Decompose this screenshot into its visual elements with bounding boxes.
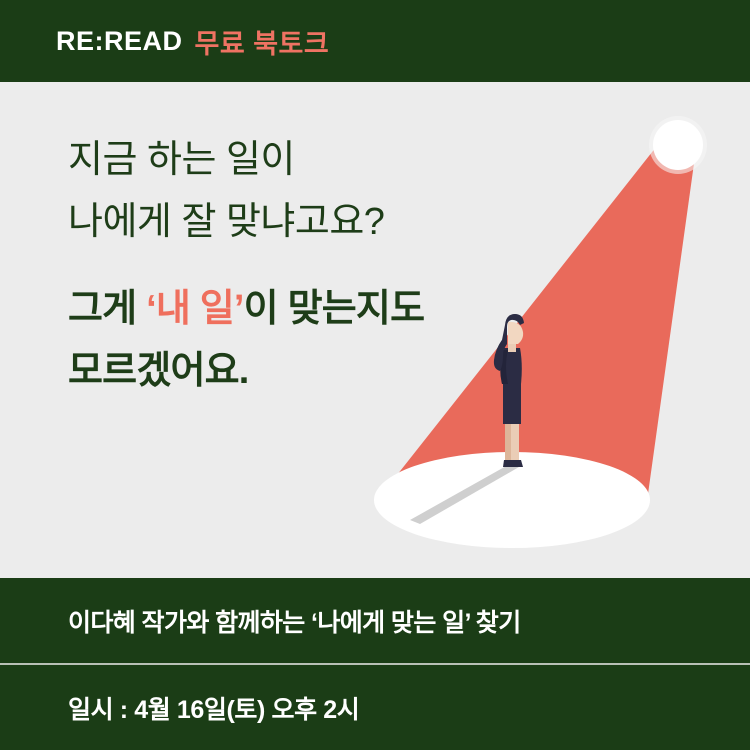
- woman-back-leg: [505, 419, 512, 465]
- headline-line-4: 모르겠어요.: [68, 341, 498, 403]
- footer-event-title: 이다혜 작가와 함께하는 ‘나에게 맞는 일’ 찾기: [68, 578, 521, 663]
- woman-shoe: [503, 460, 523, 467]
- headline-line-3-before: 그게: [68, 288, 146, 330]
- header-bar: RE:READ 무료 북토크: [0, 0, 750, 82]
- brand-lockup: RE:READ 무료 북토크: [56, 0, 329, 82]
- brand-subtitle: 무료 북토크: [195, 22, 330, 61]
- footer-bar: 이다혜 작가와 함께하는 ‘나에게 맞는 일’ 찾기 일시 : 4월 16일(토…: [0, 578, 750, 750]
- woman-skirt: [503, 382, 521, 424]
- poster-stage: 지금 하는 일이 나에게 잘 맞냐고요? 그게 ‘내 일’이 맞는지도 모르겠어…: [0, 82, 750, 578]
- headline-spacer: [68, 253, 498, 279]
- woman-front-leg: [511, 419, 519, 465]
- headline-line-1: 지금 하는 일이: [68, 130, 498, 192]
- promo-poster: RE:READ 무료 북토크: [0, 0, 750, 750]
- headline-line-3-after: 이 맞는지도: [244, 288, 425, 330]
- brand-name: RE:READ: [56, 26, 183, 57]
- headline-block: 지금 하는 일이 나에게 잘 맞냐고요? 그게 ‘내 일’이 맞는지도 모르겠어…: [68, 130, 498, 402]
- headline-accent-phrase: ‘내 일’: [146, 288, 244, 330]
- headline-line-2: 나에게 잘 맞냐고요?: [68, 192, 498, 254]
- footer-event-datetime: 일시 : 4월 16일(토) 오후 2시: [68, 665, 359, 750]
- spotlight-lamp-bulb: [653, 120, 703, 170]
- headline-line-3: 그게 ‘내 일’이 맞는지도: [68, 279, 498, 341]
